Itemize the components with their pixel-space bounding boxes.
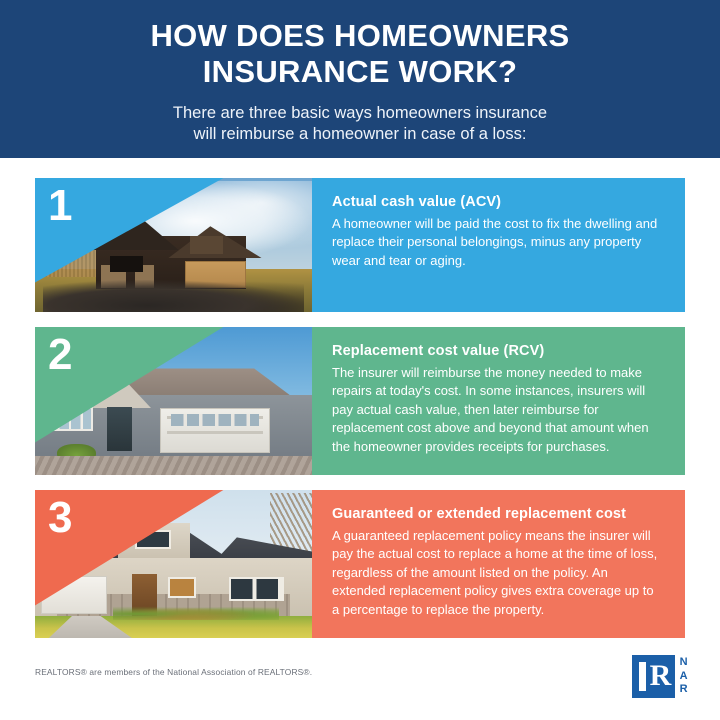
- nar-letter-r: R: [680, 683, 688, 697]
- footer-disclaimer: REALTORS® are members of the National As…: [35, 667, 312, 677]
- card-guaranteed-extended-replacement-cost: 3 Guaranteed or extended replacement cos…: [35, 490, 685, 638]
- card-replacement-cost-value: 2 Replacement cost value (RCV) The insur…: [35, 327, 685, 475]
- nar-letter-n: N: [680, 656, 688, 670]
- card-1-text-panel: Actual cash value (ACV) A homeowner will…: [312, 178, 685, 312]
- card-3-photo: 3: [35, 490, 312, 638]
- page-title-line-1: HOW DOES HOMEOWNERS: [40, 18, 680, 54]
- card-1-photo: 1: [35, 178, 312, 312]
- nar-letter-a: A: [680, 670, 688, 684]
- page-subtitle: There are three basic ways homeowners in…: [40, 103, 680, 145]
- page-subtitle-line-2: will reimburse a homeowner in case of a …: [40, 124, 680, 145]
- burned-window: [110, 256, 143, 272]
- card-1-title: Actual cash value (ACV): [332, 194, 663, 210]
- card-2-body: The insurer will reimburse the money nee…: [332, 364, 663, 456]
- footer: REALTORS® are members of the National As…: [0, 640, 720, 720]
- garage-windows: [171, 414, 260, 426]
- card-3-text-panel: Guaranteed or extended replacement cost …: [312, 490, 685, 638]
- cards-container: 1 Actual cash value (ACV) A homeowner wi…: [35, 178, 685, 653]
- front-door: [107, 407, 132, 451]
- card-2-title: Replacement cost value (RCV): [332, 343, 663, 359]
- card-2-text-panel: Replacement cost value (RCV) The insurer…: [312, 327, 685, 475]
- fire-debris: [43, 280, 303, 312]
- dormer: [190, 236, 223, 255]
- garage-door: [41, 576, 107, 614]
- header-banner: HOW DOES HOMEOWNERS INSURANCE WORK? Ther…: [0, 0, 720, 158]
- front-window: [46, 407, 93, 431]
- landscaping-shrubs: [113, 605, 279, 620]
- logo-letter-r: R: [650, 662, 668, 691]
- paver-driveway: [35, 456, 312, 475]
- page-subtitle-line-1: There are three basic ways homeowners in…: [40, 103, 680, 124]
- card-3-body: A guaranteed replacement policy means th…: [332, 527, 663, 619]
- upper-window: [135, 530, 171, 549]
- card-1-body: A homeowner will be paid the cost to fix…: [332, 215, 663, 270]
- nar-logo-mark-icon: R: [632, 655, 675, 698]
- card-3-title: Guaranteed or extended replacement cost: [332, 506, 663, 522]
- card-actual-cash-value: 1 Actual cash value (ACV) A homeowner wi…: [35, 178, 685, 312]
- page-title-line-2: INSURANCE WORK?: [40, 54, 680, 90]
- logo-vertical-bar: [639, 662, 646, 691]
- card-2-photo: 2: [35, 327, 312, 475]
- nar-logo[interactable]: R N A R: [632, 655, 688, 698]
- page-title: HOW DOES HOMEOWNERS INSURANCE WORK?: [40, 18, 680, 91]
- side-windows: [229, 577, 284, 601]
- lit-window: [168, 577, 196, 598]
- nar-logo-letters: N A R: [680, 656, 688, 698]
